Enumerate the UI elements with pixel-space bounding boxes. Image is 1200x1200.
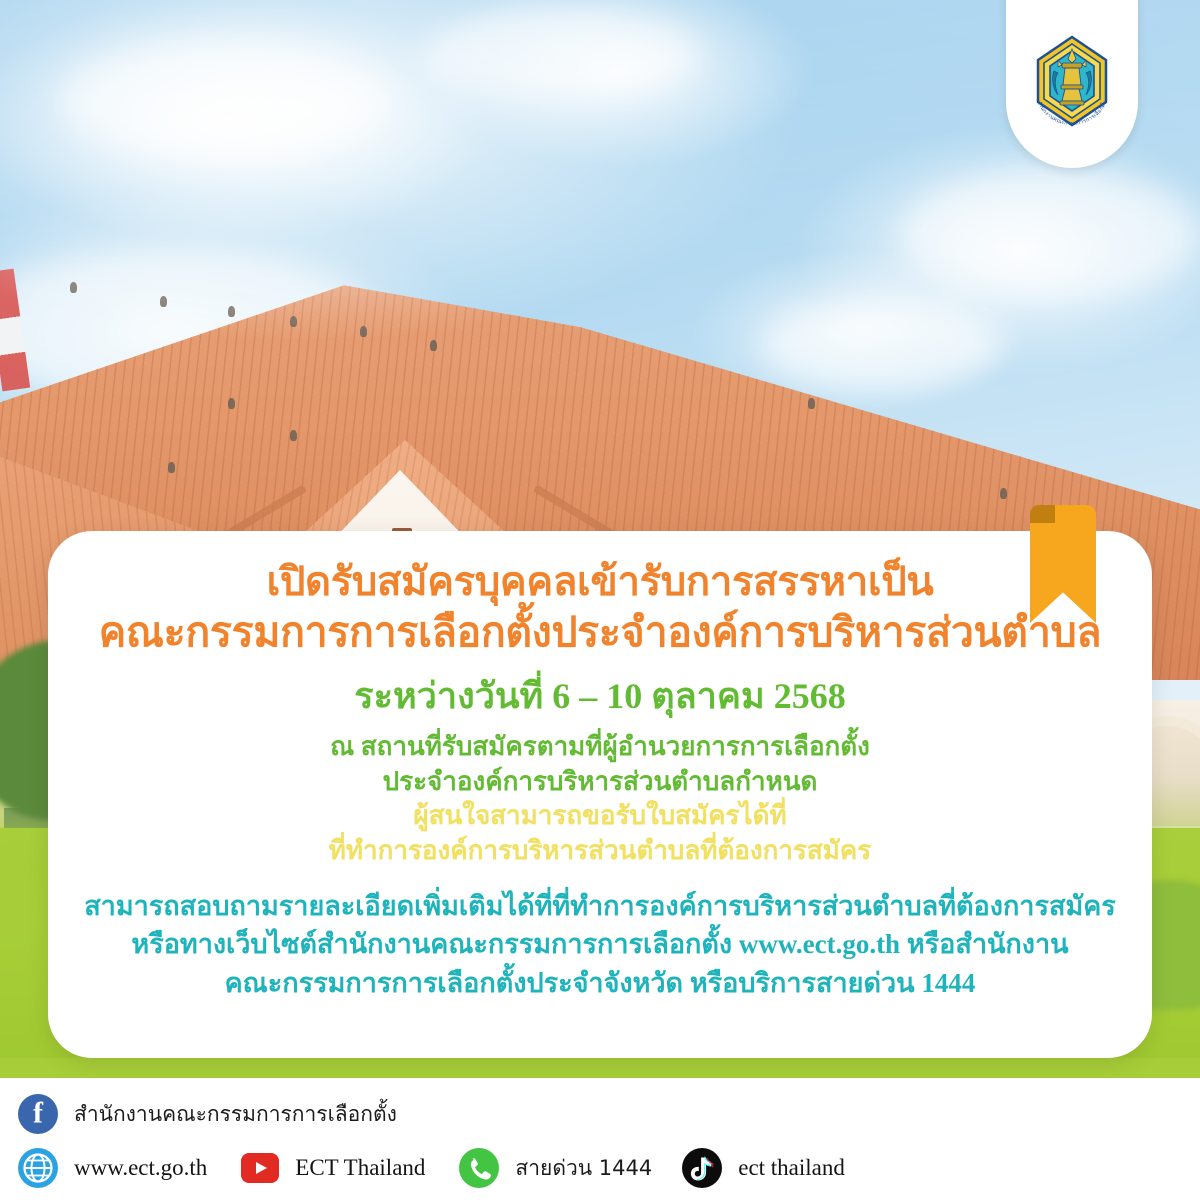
footer-channels-row: www.ect.go.th ECT Thailand สายด่วน 1444 bbox=[18, 1148, 828, 1188]
contact-block: สามารถสอบถามรายละเอียดเพิ่มเติมได้ที่ที่… bbox=[74, 887, 1126, 1002]
bird bbox=[160, 296, 167, 307]
phone-icon[interactable] bbox=[459, 1148, 499, 1188]
bookmark-ribbon-icon bbox=[1030, 505, 1096, 623]
poster-root: การบริหารส่วนตำบลเมืองไผ่ bbox=[0, 0, 1200, 1200]
detail-line-2: ประจำองค์การบริหารส่วนตำบลกำหนด bbox=[74, 765, 1126, 800]
green-accent-strip bbox=[0, 1058, 1200, 1078]
ect-emblem-icon: สำนักงานคณะกรรมการการเลือกตั้ง bbox=[1018, 29, 1126, 137]
bird bbox=[290, 316, 297, 327]
website-label[interactable]: www.ect.go.th bbox=[74, 1155, 207, 1181]
footer-facebook-row[interactable]: สำนักงานคณะกรรมการการเลือกตั้ง bbox=[18, 1094, 828, 1134]
cloud-wisp bbox=[420, 10, 700, 100]
bird bbox=[430, 340, 437, 351]
bird bbox=[1000, 488, 1007, 499]
date-range: ระหว่างวันที่ 6 – 10 ตุลาคม 2568 bbox=[74, 675, 1126, 718]
bird bbox=[228, 306, 235, 317]
announcement-card: เปิดรับสมัครบุคคลเข้ารับการสรรหาเป็น คณะ… bbox=[48, 531, 1152, 1058]
contact-line-3: คณะกรรมการการเลือกตั้งประจำจังหวัด หรือบ… bbox=[74, 964, 1126, 1002]
facebook-label[interactable]: สำนักงานคณะกรรมการการเลือกตั้ง bbox=[74, 1098, 397, 1131]
bird bbox=[808, 398, 815, 409]
footer-social-group: สำนักงานคณะกรรมการการเลือกตั้ง www.ect.g… bbox=[18, 1086, 828, 1188]
facebook-icon[interactable] bbox=[18, 1094, 58, 1134]
bird bbox=[228, 398, 235, 409]
detail-line-1: ณ สถานที่รับสมัครตามที่ผู้อำนวยการการเลื… bbox=[74, 730, 1126, 765]
detail-line-4: ที่ทำการองค์การบริหารส่วนตำบลที่ต้องการส… bbox=[74, 834, 1126, 869]
tiktok-label[interactable]: ect thailand bbox=[738, 1155, 845, 1181]
contact-line-1: สามารถสอบถามรายละเอียดเพิ่มเติมได้ที่ที่… bbox=[74, 887, 1126, 925]
bird bbox=[290, 430, 297, 441]
hotline-label[interactable]: สายด่วน 1444 bbox=[515, 1152, 652, 1185]
detail-line-3: ผู้สนใจสามารถขอรับใบสมัครได้ที่ bbox=[74, 799, 1126, 834]
youtube-icon[interactable] bbox=[241, 1153, 279, 1183]
heading-line-1: เปิดรับสมัครบุคคลเข้ารับการสรรหาเป็น bbox=[74, 559, 1126, 606]
bird bbox=[168, 462, 175, 473]
tiktok-icon[interactable] bbox=[682, 1148, 722, 1188]
heading-line-2: คณะกรรมการการเลือกตั้งประจำองค์การบริหาร… bbox=[74, 608, 1126, 656]
youtube-label[interactable]: ECT Thailand bbox=[295, 1155, 425, 1181]
bird bbox=[360, 326, 367, 337]
globe-icon[interactable] bbox=[18, 1148, 58, 1188]
footer-bar: สำนักงานคณะกรรมการการเลือกตั้ง www.ect.g… bbox=[0, 1078, 1200, 1200]
ect-logo-tab: สำนักงานคณะกรรมการการเลือกตั้ง bbox=[1006, 0, 1138, 168]
contact-line-2: หรือทางเว็บไซต์สำนักงานคณะกรรมการการเลือ… bbox=[74, 925, 1126, 963]
bird bbox=[70, 282, 77, 293]
ribbon-fold bbox=[1030, 505, 1055, 523]
